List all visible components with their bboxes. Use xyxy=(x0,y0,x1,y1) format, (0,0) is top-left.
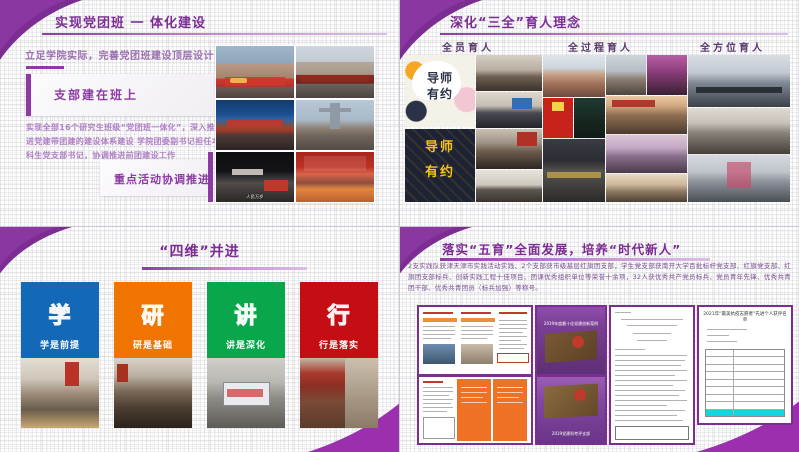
poster-mentor-appointment-light: 导师 有约 xyxy=(405,55,475,127)
doc-newspaper-clipping xyxy=(417,305,533,376)
photo-theater-dark-group: 人民万岁 xyxy=(216,152,294,202)
doc-orange-certificate-set xyxy=(417,375,533,445)
card-lecture[interactable]: 讲 讲是深化 xyxy=(207,282,285,428)
glyph-xing-icon: 行 xyxy=(300,298,378,330)
photo-campus-hall-group xyxy=(216,46,294,98)
page-title-top-left: 实现党团班 一 体化建设 xyxy=(55,12,206,31)
doc-caption: 2019党建科考评支部 xyxy=(540,431,602,437)
panel-top-right: 深化“三全”育人理念 全员育人 全过程育人 全方位育人 导师 有约 导师 有约 xyxy=(400,0,799,225)
title-rule-top-left xyxy=(42,33,387,35)
photo-stage-blue-group xyxy=(216,100,294,150)
column-header-2: 全过程育人 xyxy=(568,39,633,54)
glyph-xue-icon: 学 xyxy=(21,298,99,330)
card-label: 讲是深化 xyxy=(207,338,285,351)
photo-seminar-room xyxy=(688,108,790,154)
callout-key-activity: 重点活动协调推进 xyxy=(100,160,210,196)
body-text-bottom-right: 2支实践队获津天津市实践活动实践、2个支部获市级基层红旗团支部，学生党支部获南开… xyxy=(408,261,791,294)
panel-bottom-right: 落实“五育”全面发展，培养“时代新人” 2支实践队获津天津市实践活动实践、2个支… xyxy=(400,227,799,452)
column-header-1: 全员育人 xyxy=(442,39,494,54)
photo-lecture-screen xyxy=(207,358,285,428)
photo-lecture-audience xyxy=(476,129,542,169)
glyph-jiang-icon: 讲 xyxy=(207,298,285,330)
doc-award-plaque-2019: 2019年度最十佳党建创新案例 xyxy=(535,305,607,376)
photo-outdoor-students xyxy=(606,55,646,95)
photo-lab-bench-students xyxy=(688,55,790,107)
card-label: 研是基础 xyxy=(114,338,192,351)
glyph-yan-icon: 研 xyxy=(114,298,192,330)
title-rule-top-right xyxy=(440,33,788,35)
photo-dark-green-poster xyxy=(574,98,605,138)
accent-dash xyxy=(26,66,64,69)
card-label: 学是前提 xyxy=(21,338,99,351)
doc-caption: 2019年度最十佳党建创新案例 xyxy=(540,321,602,327)
doc-notice-text xyxy=(609,305,695,445)
photo-monument-group xyxy=(296,100,374,150)
doc-caption: 2021年“最美抗疫志愿者”先进个人获评名单 xyxy=(702,312,788,324)
page-title-top-right: 深化“三全”育人理念 xyxy=(450,12,581,31)
page-title-bottom-left: “四维”并进 xyxy=(0,241,399,261)
body-text-top-left: 实现全部16个研究生班级“党团班一体化”，深入推进党建带团建的建设体系建设 学院… xyxy=(26,121,221,163)
photo-red-hall-group xyxy=(296,152,374,202)
photo-seminar-table xyxy=(114,358,192,428)
photo-caption: 人民万岁 xyxy=(218,194,292,200)
accent-vertical-bar xyxy=(208,152,213,202)
callout-label: 支部建在班上 xyxy=(54,86,138,103)
photo-interview-two-women xyxy=(543,55,605,97)
card-learn[interactable]: 学 学是前提 xyxy=(21,282,99,428)
poster-mentor-appointment-dark: 导师 有约 xyxy=(405,129,475,202)
title-rule-bottom-left xyxy=(142,267,307,270)
poster-board: 实现党团班 一 体化建设 立足学院实际，完善党团班建设顶层设计 支部建在班上 实… xyxy=(0,0,799,452)
photo-corridor-visit xyxy=(300,358,378,428)
photo-outdoor-banner-group xyxy=(296,46,374,98)
callout-accent-bar xyxy=(26,74,31,116)
photo-empty-conference-room xyxy=(476,170,542,202)
poster-line-1: 导师 xyxy=(411,139,470,156)
poster-line-1: 导师 xyxy=(416,71,464,86)
subheading-top-left: 立足学院实际，完善党团班建设顶层设计 xyxy=(25,47,214,62)
column-header-3: 全方位育人 xyxy=(700,39,765,54)
photo-performance-stage xyxy=(647,55,687,95)
photo-meeting-room-round-table xyxy=(476,55,542,91)
doc-award-plaque-bronze: 2019党建科考评支部 xyxy=(535,375,607,445)
card-practice[interactable]: 行 行是落实 xyxy=(300,282,378,428)
poster-line-2: 有约 xyxy=(411,164,470,181)
photo-tv-studio-panel xyxy=(606,135,687,173)
poster-line-2: 有约 xyxy=(416,87,464,102)
callout-branch-in-class: 支部建在班上 xyxy=(26,74,216,116)
panel-bottom-left: “四维”并进 学 学是前提 研 研是基础 xyxy=(0,227,399,452)
card-label: 行是落实 xyxy=(300,338,378,351)
photo-banquet-hall-meeting xyxy=(606,96,687,134)
photo-party-flag-red-poster xyxy=(543,98,573,138)
card-research[interactable]: 研 研是基础 xyxy=(114,282,192,428)
photo-classroom-group xyxy=(21,358,99,428)
photo-document-scan xyxy=(688,155,790,202)
callout-label-2: 重点活动协调推进 xyxy=(114,171,210,187)
page-title-bottom-right: 落实“五育”全面发展，培养“时代新人” xyxy=(442,239,681,258)
photo-award-ceremony-line xyxy=(543,139,605,202)
photo-classroom-projector xyxy=(476,92,542,128)
panel-top-left: 实现党团班 一 体化建设 立足学院实际，完善党团班建设顶层设计 支部建在班上 实… xyxy=(0,0,399,225)
photo-certificate-handshake xyxy=(606,174,687,202)
doc-honor-roll-table: 2021年“最美抗疫志愿者”先进个人获评名单 xyxy=(697,305,793,425)
